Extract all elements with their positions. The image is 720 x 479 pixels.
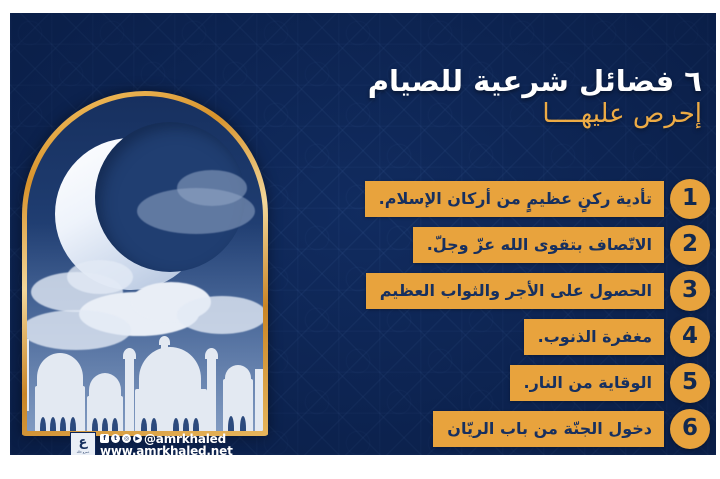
list-item-label: تأدية ركنٍ عظيمٍ من أركان الإسلام. bbox=[379, 191, 652, 207]
brand-text-block: f t ◎ ▶ @amrkhaled www.amrkhaled.net bbox=[100, 433, 233, 455]
list-item-bar[interactable]: الوقاية من النار. bbox=[510, 365, 664, 401]
youtube-icon[interactable]: ▶ bbox=[133, 434, 142, 443]
list-item-label: مغفرة الذنوب. bbox=[538, 329, 652, 345]
poster-canvas: ٦ فضائل شرعية للصيام إحرص عليهــــا تأدي… bbox=[0, 0, 720, 479]
list-item[interactable]: مغفرة الذنوب. 4 bbox=[296, 316, 710, 357]
page-title: ٦ فضائل شرعية للصيام إحرص عليهــــا bbox=[272, 65, 702, 131]
list-item-number-badge: 4 bbox=[670, 317, 710, 357]
list-item-label: الحصول على الأجر والثواب العظيم bbox=[380, 283, 652, 299]
list-item-number-badge: 2 bbox=[670, 225, 710, 265]
list-item-bar[interactable]: تأدية ركنٍ عظيمٍ من أركان الإسلام. bbox=[365, 181, 664, 217]
cloud-shape bbox=[177, 170, 247, 206]
list-item[interactable]: دخول الجنّة من باب الريّان 6 bbox=[296, 408, 710, 449]
cloud-shape bbox=[67, 260, 133, 294]
virtues-list: تأدية ركنٍ عظيمٍ من أركان الإسلام. 1 الا… bbox=[296, 178, 710, 454]
title-subtitle: إحرص عليهــــا bbox=[272, 99, 702, 130]
list-item[interactable]: الاتّصاف بتقوى الله عزّ وجلّ. 2 bbox=[296, 224, 710, 265]
logo-subtext: عمرو خالد bbox=[77, 450, 90, 454]
list-item-bar[interactable]: الاتّصاف بتقوى الله عزّ وجلّ. bbox=[413, 227, 664, 263]
list-item-number-badge: 5 bbox=[670, 363, 710, 403]
title-main: ٦ فضائل شرعية للصيام bbox=[272, 65, 702, 97]
twitter-icon[interactable]: t bbox=[111, 434, 120, 443]
list-item-bar[interactable]: دخول الجنّة من باب الريّان bbox=[433, 411, 664, 447]
list-item-label: الاتّصاف بتقوى الله عزّ وجلّ. bbox=[427, 237, 652, 253]
instagram-icon[interactable]: ◎ bbox=[122, 434, 131, 443]
list-item-bar[interactable]: مغفرة الذنوب. bbox=[524, 319, 664, 355]
cloud-shape bbox=[177, 296, 263, 334]
amrkhaled-logo-icon: ع عمرو خالد bbox=[70, 432, 96, 455]
list-item-label: الوقاية من النار. bbox=[524, 375, 652, 391]
website-url[interactable]: www.amrkhaled.net bbox=[100, 445, 233, 455]
brand-footer[interactable]: ع عمرو خالد f t ◎ ▶ @amrkhaled www.amrkh… bbox=[70, 432, 233, 455]
list-item[interactable]: الحصول على الأجر والثواب العظيم 3 bbox=[296, 270, 710, 311]
facebook-icon[interactable]: f bbox=[100, 434, 109, 443]
list-item-number-badge: 6 bbox=[670, 409, 710, 449]
poster-panel: ٦ فضائل شرعية للصيام إحرص عليهــــا تأدي… bbox=[10, 13, 716, 455]
arched-window bbox=[22, 91, 268, 436]
list-item-label: دخول الجنّة من باب الريّان bbox=[447, 421, 652, 437]
list-item[interactable]: الوقاية من النار. 5 bbox=[296, 362, 710, 403]
list-item-number-badge: 3 bbox=[670, 271, 710, 311]
list-item-number-badge: 1 bbox=[670, 179, 710, 219]
logo-glyph: ع bbox=[79, 436, 88, 449]
window-night-sky bbox=[27, 96, 263, 431]
list-item[interactable]: تأدية ركنٍ عظيمٍ من أركان الإسلام. 1 bbox=[296, 178, 710, 219]
mosque-silhouette bbox=[27, 339, 263, 431]
list-item-bar[interactable]: الحصول على الأجر والثواب العظيم bbox=[366, 273, 664, 309]
